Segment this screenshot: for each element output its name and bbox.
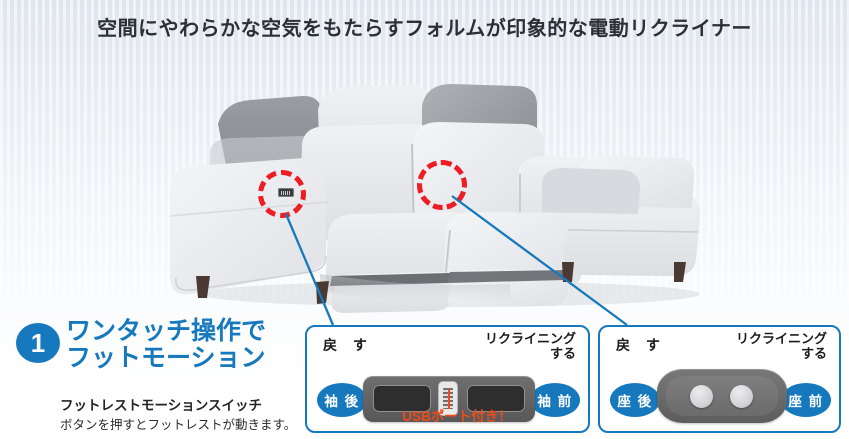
panel1-recline-label-line2: する [485,346,576,361]
feature-number-badge: 1 [16,323,60,363]
panel1-recline-label: リクライニング する [485,331,576,362]
page-headline: 空間にやわらかな空気をもたらすフォルムが印象的な電動リクライナー [0,12,849,41]
arm-switch-panel: 戻 す リクライニング する 袖 後 袖 前 USBポート付き！ [305,325,590,433]
panel2-recline-label-line1: リクライニング [736,331,827,346]
panel2-pill-seat-front[interactable]: 座 前 [781,383,831,417]
seat-switch-button-back[interactable] [690,385,713,408]
feature-title: ワンタッチ操作で フットモーション [66,318,306,371]
feature-subtitle-strong: フットレストモーションスイッチ [60,394,262,414]
panel1-pill-arm-back[interactable]: 袖 後 [317,383,367,417]
seat-switch-remote [657,369,787,423]
panel2-pill-seat-back[interactable]: 座 後 [610,383,660,417]
seat-switch-panel: 戻 す リクライニング する 座 後 座 前 [598,325,841,433]
feature-caption: 1 ワンタッチ操作で フットモーション フットレストモーションスイッチ ボタンを… [8,318,303,433]
feature-subtitle-plain: ボタンを押すとフットレストが動きます。 [60,414,296,433]
feature-title-line1: ワンタッチ操作で [66,318,306,345]
feature-title-line2: フットモーション [66,345,306,372]
panel1-recline-label-line1: リクライニング [485,331,576,346]
panel2-recline-label: リクライニング する [736,331,827,362]
seat-switch-button-front[interactable] [730,385,753,408]
seat-switch-callout-circle [417,160,467,210]
panel1-return-label: 戻 す [323,335,373,355]
page-root: 空間にやわらかな空気をもたらすフォルムが印象的な電動リクライナー [0,0,849,439]
panel2-return-label: 戻 す [616,335,666,355]
panel2-recline-label-line2: する [736,346,827,361]
armrest-usb-switch-icon [278,188,294,197]
usb-note-label: USBポート付き！ [362,405,552,425]
